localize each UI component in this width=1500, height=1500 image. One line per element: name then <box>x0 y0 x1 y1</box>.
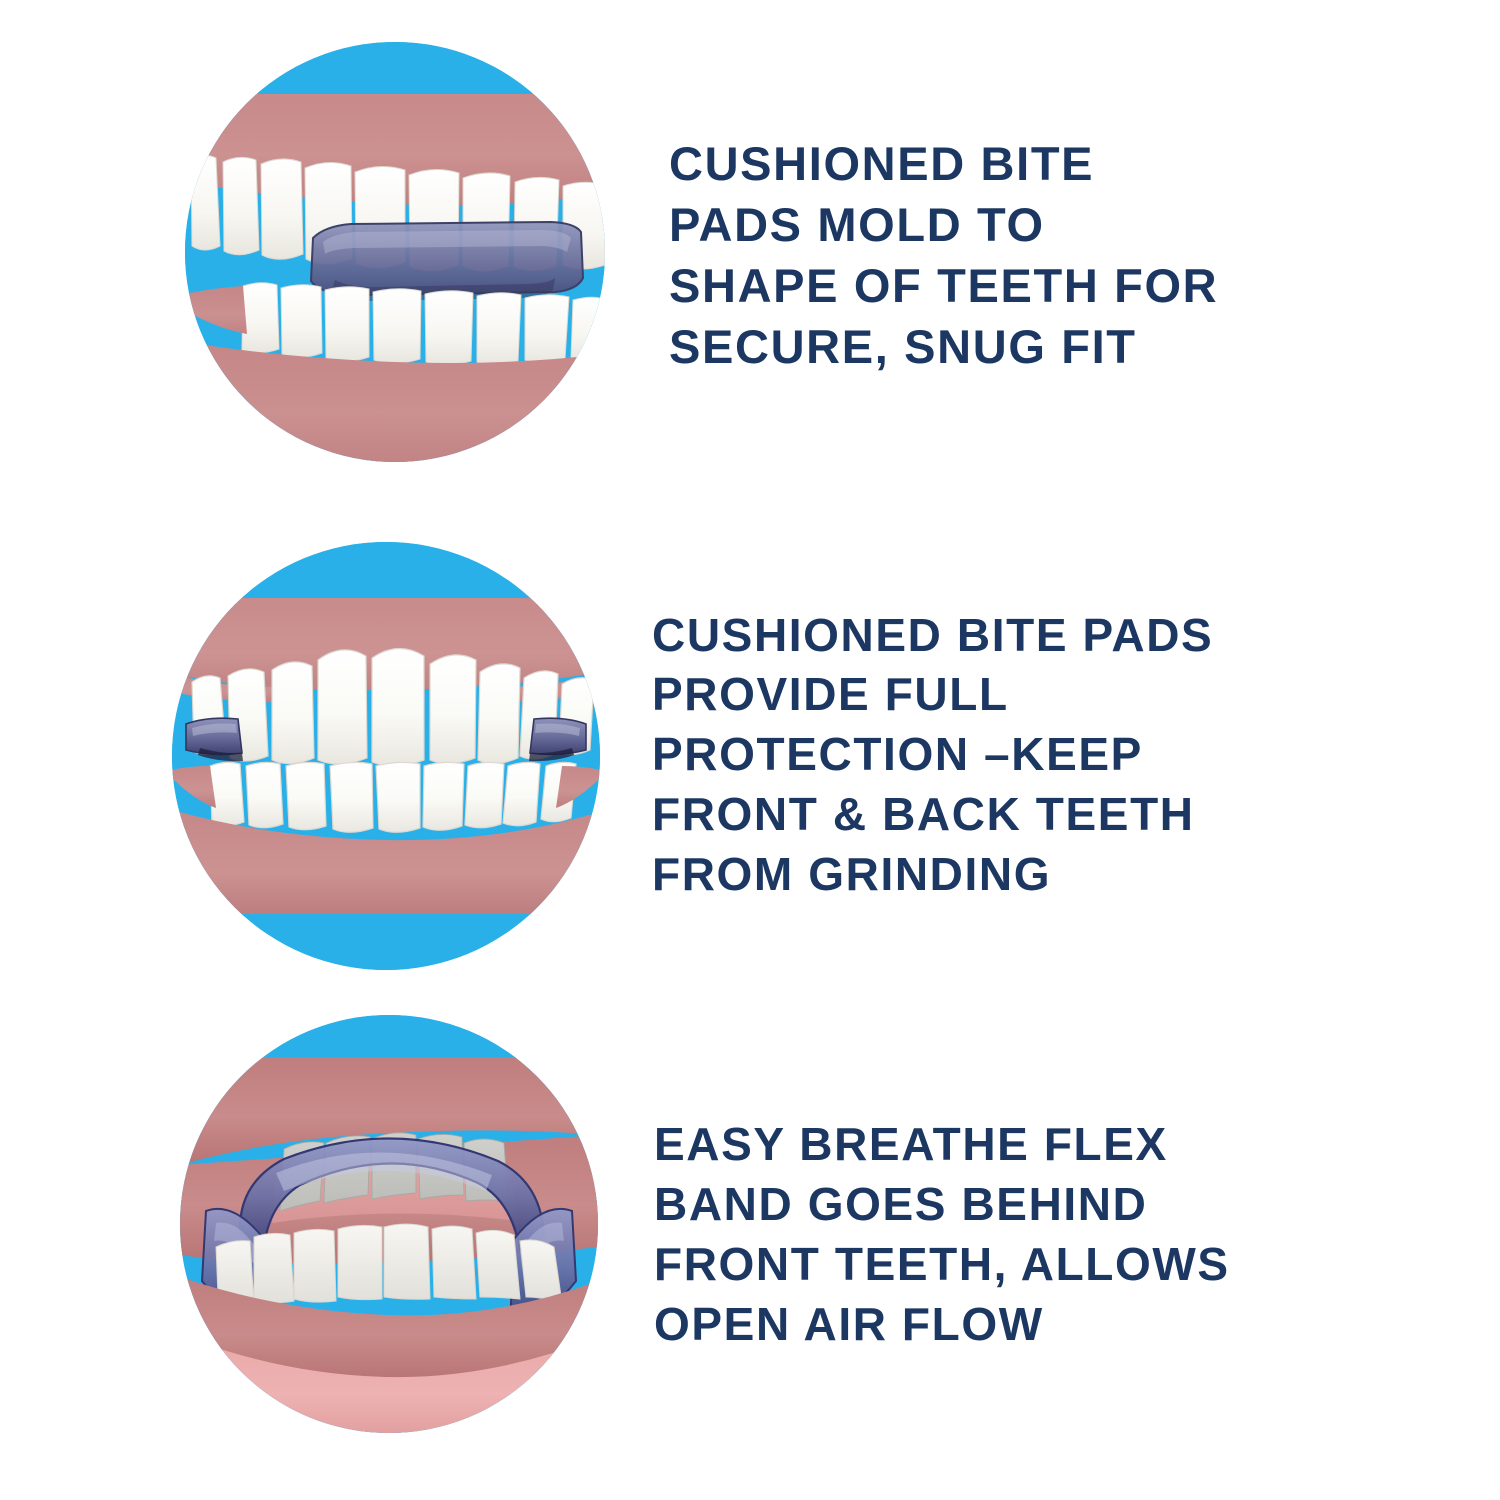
illustration-inside-mouth-view-flex-band <box>170 1000 620 1470</box>
feature-1-line-2: PADS MOLD TO <box>669 194 1350 255</box>
inside-mouth-flex-band-svg <box>180 1015 598 1433</box>
feature-row-1: CUSHIONED BITE PADS MOLD TO SHAPE OF TEE… <box>0 20 1500 490</box>
feature-3-line-1: EASY BREATHE FLEX <box>654 1115 1420 1175</box>
feature-2-line-3: PROTECTION –KEEP <box>652 725 1350 785</box>
circle-background-3 <box>180 1015 598 1433</box>
illustration-side-view-teeth-with-mouthguard <box>165 20 605 490</box>
illustration-front-view-teeth-with-bite-pads <box>150 520 600 990</box>
feature-2-line-4: FRONT & BACK TEETH <box>652 785 1350 845</box>
infographic-page: CUSHIONED BITE PADS MOLD TO SHAPE OF TEE… <box>0 0 1500 1500</box>
feature-3-line-3: FRONT TEETH, ALLOWS <box>654 1235 1420 1295</box>
feature-1-line-1: CUSHIONED BITE <box>669 133 1350 194</box>
feature-3-line-2: BAND GOES BEHIND <box>654 1175 1420 1235</box>
feature-1-line-4: SECURE, SNUG FIT <box>669 316 1350 377</box>
feature-2-line-1: CUSHIONED BITE PADS <box>652 606 1350 666</box>
circle-background-1 <box>185 42 605 462</box>
feature-3-line-4: OPEN AIR FLOW <box>654 1295 1420 1355</box>
feature-text-3: EASY BREATHE FLEX BAND GOES BEHIND FRONT… <box>654 1115 1500 1354</box>
front-view-teeth-svg <box>172 542 600 970</box>
feature-text-1: CUSHIONED BITE PADS MOLD TO SHAPE OF TEE… <box>669 133 1500 377</box>
feature-2-line-5: FROM GRINDING <box>652 845 1350 905</box>
feature-text-2: CUSHIONED BITE PADS PROVIDE FULL PROTECT… <box>652 606 1500 905</box>
side-view-teeth-svg <box>185 42 605 462</box>
feature-row-3: EASY BREATHE FLEX BAND GOES BEHIND FRONT… <box>0 1000 1500 1470</box>
feature-row-2: CUSHIONED BITE PADS PROVIDE FULL PROTECT… <box>0 520 1500 990</box>
circle-background-2 <box>172 542 600 970</box>
feature-2-line-2: PROVIDE FULL <box>652 665 1350 725</box>
feature-1-line-3: SHAPE OF TEETH FOR <box>669 255 1350 316</box>
